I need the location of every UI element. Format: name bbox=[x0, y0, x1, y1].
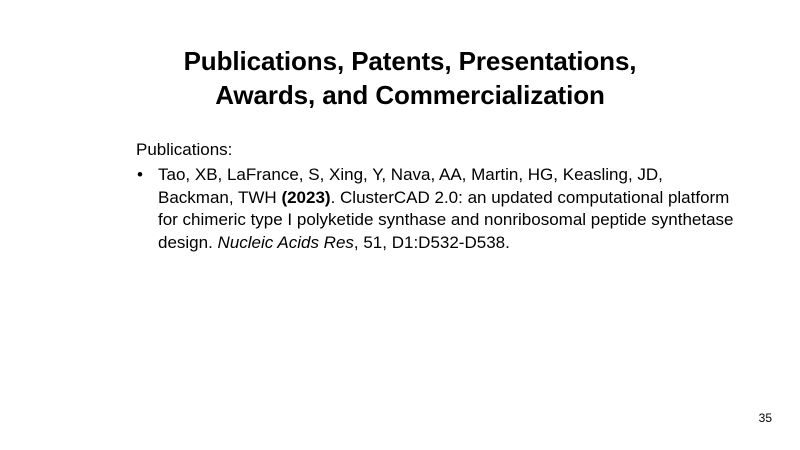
bullet-icon: • bbox=[137, 164, 143, 187]
reference-journal: Nucleic Acids Res bbox=[218, 233, 354, 252]
slide-title: Publications, Patents, Presentations, Aw… bbox=[60, 44, 760, 112]
page-number: 35 bbox=[759, 411, 772, 425]
reference-year: (2023) bbox=[281, 188, 330, 207]
reference-citation-tail: , 51, D1:D532-D538. bbox=[354, 233, 510, 252]
slide-title-line-1: Publications, Patents, Presentations, bbox=[60, 44, 760, 78]
publications-list: •Tao, XB, LaFrance, S, Xing, Y, Nava, AA… bbox=[136, 164, 736, 254]
slide-canvas: Publications, Patents, Presentations, Aw… bbox=[0, 0, 800, 450]
slide-title-line-2: Awards, and Commercialization bbox=[60, 78, 760, 112]
list-item: •Tao, XB, LaFrance, S, Xing, Y, Nava, AA… bbox=[136, 164, 736, 254]
publications-section-label: Publications: bbox=[136, 138, 736, 161]
slide-body: Publications: •Tao, XB, LaFrance, S, Xin… bbox=[136, 138, 736, 254]
